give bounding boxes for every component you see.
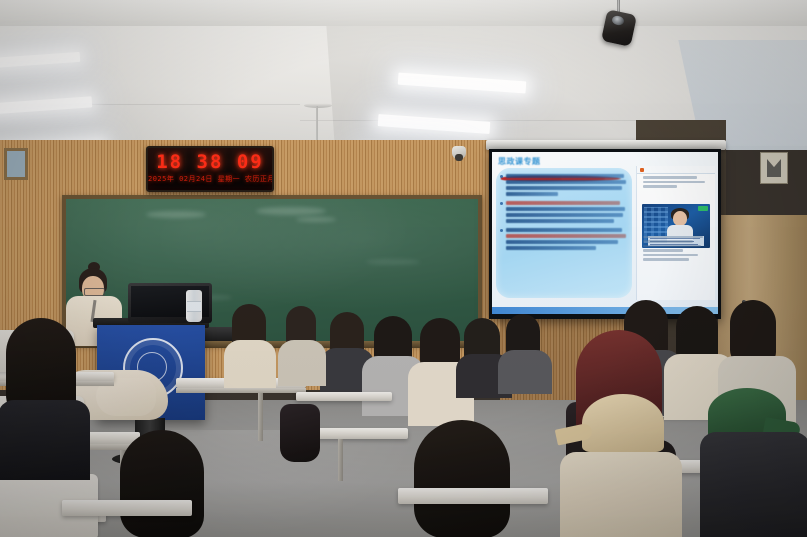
wall-security-camera <box>452 146 466 159</box>
clock-time: 18 38 09 <box>148 151 272 173</box>
beige-cap <box>582 394 664 452</box>
desk-edge <box>176 388 306 393</box>
wall-sign <box>760 152 788 184</box>
slide-title: 思政课专题 <box>498 156 618 166</box>
projected-slide: 思政课专题 <box>492 152 718 314</box>
lecturer-glasses <box>84 288 105 296</box>
desk <box>62 500 192 516</box>
desk-leg <box>258 393 263 441</box>
pendant-mount <box>304 103 332 108</box>
site-logo-icon <box>640 168 644 172</box>
web-topbar <box>637 166 715 174</box>
slide-content-box <box>496 168 632 298</box>
desk-leg <box>338 439 343 481</box>
framed-picture <box>4 148 28 180</box>
live-badge <box>698 206 708 211</box>
backpack <box>280 404 320 462</box>
lecture-hall-photo: 18 38 09 2025年 02月24日 星期一 农历正月廿七 思政课专题 <box>0 0 807 537</box>
desk <box>296 392 392 401</box>
ceiling-bevel <box>0 0 807 26</box>
desk <box>398 488 548 504</box>
news-webpage-panel <box>636 166 715 300</box>
led-wall-clock: 18 38 09 2025年 02月24日 星期一 农历正月廿七 <box>146 146 274 192</box>
clock-date: 2025年 02月24日 星期一 农历正月廿七 <box>148 174 272 184</box>
water-bottle <box>186 290 202 322</box>
